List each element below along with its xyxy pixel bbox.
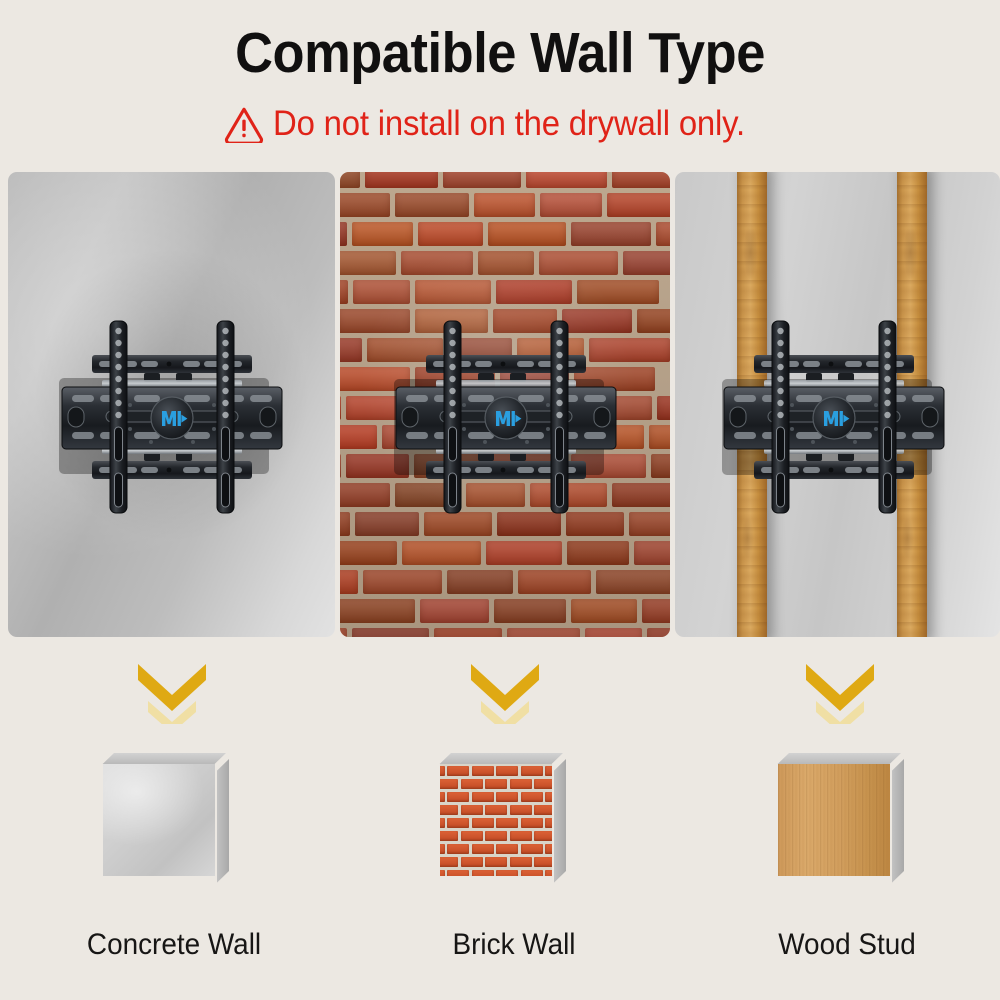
brick: [402, 541, 481, 565]
warning-triangle-icon: [224, 106, 264, 143]
brick: [395, 193, 469, 217]
brick: [540, 193, 602, 217]
swatch-brick: [545, 844, 552, 854]
brick: [340, 251, 396, 275]
brick: [634, 541, 670, 565]
brick-row: [340, 278, 670, 307]
brick: [340, 454, 341, 478]
mount-center-hub: [485, 397, 527, 439]
brick-row: [340, 220, 670, 249]
panel-brick-wall: [340, 172, 670, 637]
brick: [577, 280, 659, 304]
brick: [418, 222, 483, 246]
swatch-brick: [461, 805, 483, 815]
swatch-brick-row: [440, 764, 552, 777]
swatch-brick: [521, 792, 543, 802]
swatch-brick: [440, 857, 458, 867]
swatch-brick: [534, 831, 552, 841]
swatch-brick: [461, 857, 483, 867]
swatch-brick: [496, 870, 518, 877]
brick: [571, 599, 637, 623]
swatch-brick: [545, 766, 552, 776]
swatch-brick-row: [440, 803, 552, 816]
brick: [518, 570, 591, 594]
mount-vertical-arm-right: [551, 321, 568, 513]
swatch-brick: [496, 766, 518, 776]
swatch-brick: [472, 766, 494, 776]
brick: [596, 570, 670, 594]
swatch-brick: [485, 831, 507, 841]
brick: [474, 193, 535, 217]
swatch-top-face: [440, 753, 563, 764]
brick-row: [340, 568, 670, 597]
tv-mount-bracket-stud: [718, 317, 950, 517]
brick: [637, 309, 670, 333]
mount-vertical-arm-right: [217, 321, 234, 513]
brick: [585, 628, 642, 637]
swatch-brick: [534, 857, 552, 867]
swatch-brick: [496, 792, 518, 802]
swatch-brick-row: [440, 868, 552, 876]
brick-row: [340, 597, 670, 626]
swatch-brick: [440, 805, 458, 815]
swatch-brick: [510, 857, 532, 867]
mount-vertical-arm-left: [110, 321, 127, 513]
brick-row: [340, 249, 670, 278]
caption-concrete-wall: Concrete Wall: [35, 928, 314, 962]
swatch-brick-row: [440, 842, 552, 855]
wall-type-panels: [0, 172, 1000, 637]
swatch-brick: [485, 779, 507, 789]
brick: [340, 425, 377, 449]
brick: [539, 251, 618, 275]
brick: [363, 570, 442, 594]
swatch-brick: [447, 844, 469, 854]
brick: [340, 338, 362, 362]
brick: [447, 570, 513, 594]
swatch-brick: [461, 831, 483, 841]
brick: [642, 599, 670, 623]
swatch-brick: [440, 844, 445, 854]
brick: [607, 193, 670, 217]
brick: [651, 454, 670, 478]
brick: [401, 251, 473, 275]
swatch-brick: [534, 805, 552, 815]
tv-mount-bracket-concrete: [56, 317, 288, 517]
brick: [340, 599, 415, 623]
swatch-brick: [510, 831, 532, 841]
brick: [496, 280, 572, 304]
brick: [612, 172, 670, 188]
tv-mount-bracket-brick: [390, 317, 622, 517]
brick: [507, 628, 580, 637]
brick: [649, 425, 670, 449]
swatch-brick: [521, 870, 543, 877]
brick: [340, 570, 358, 594]
brick: [647, 628, 670, 637]
warning-text: Do not install on the drywall only.: [273, 104, 745, 144]
swatch-brick-row: [440, 790, 552, 803]
swatch-brick: [447, 818, 469, 828]
brick-swatch: [440, 753, 566, 877]
brick-row: [340, 539, 670, 568]
chevron-arrows-wood: [798, 658, 882, 724]
header: Compatible Wall Type Do not install on t…: [0, 0, 1000, 165]
mount-vertical-arm-left: [772, 321, 789, 513]
swatch-brick: [485, 805, 507, 815]
swatch-front-face-wood: [778, 764, 890, 876]
swatch-brick: [472, 818, 494, 828]
swatch-brick: [440, 818, 445, 828]
mount-center-hub: [813, 397, 855, 439]
swatch-brick: [510, 805, 532, 815]
panel-wood-stud: [675, 172, 1000, 637]
caption-wood-stud: Wood Stud: [708, 928, 987, 962]
tv-mount-graphic: [56, 317, 288, 517]
swatch-brick: [447, 870, 469, 877]
brick: [340, 541, 397, 565]
swatch-brick: [440, 779, 458, 789]
brick: [434, 628, 502, 637]
brick: [629, 512, 670, 536]
brick: [656, 222, 670, 246]
swatch-brick: [472, 792, 494, 802]
swatch-brick: [440, 766, 445, 776]
brick: [443, 172, 521, 188]
brick: [623, 251, 670, 275]
swatch-brick: [440, 792, 445, 802]
chevron-arrows-concrete: [130, 658, 214, 724]
mount-center-hub: [151, 397, 193, 439]
swatch-brick: [496, 818, 518, 828]
brick: [494, 599, 566, 623]
swatch-brick-row: [440, 777, 552, 790]
tv-mount-graphic: [390, 317, 622, 517]
warning-notice: Do not install on the drywall only.: [0, 104, 1000, 144]
swatch-brick-row: [440, 816, 552, 829]
swatch-brick: [521, 818, 543, 828]
brick: [340, 483, 390, 507]
swatch-brick: [485, 857, 507, 867]
swatch-brick-row: [440, 829, 552, 842]
brick: [657, 396, 670, 420]
swatch-brick: [545, 792, 552, 802]
brick-row: [340, 626, 670, 637]
swatch-top-face: [778, 753, 901, 764]
swatch-front-face-concrete: [103, 764, 215, 876]
brick: [353, 280, 410, 304]
swatch-brick: [472, 870, 494, 877]
mount-vertical-arm-left: [444, 321, 461, 513]
swatch-top-face: [103, 753, 226, 764]
swatch-brick: [447, 792, 469, 802]
brick: [571, 222, 651, 246]
swatch-brick: [545, 818, 552, 828]
brick: [486, 541, 562, 565]
swatch-brick: [534, 779, 552, 789]
swatch-brick: [510, 779, 532, 789]
double-chevron-down-icon: [798, 658, 882, 724]
swatch-brick: [521, 766, 543, 776]
swatch-side-face: [554, 759, 566, 883]
brick: [478, 251, 534, 275]
brick: [340, 193, 390, 217]
brick: [567, 541, 629, 565]
swatch-brick: [545, 870, 552, 877]
swatch-brick: [496, 844, 518, 854]
brick-row: [340, 191, 670, 220]
panel-concrete-wall: [8, 172, 335, 637]
swatch-brick: [440, 870, 445, 877]
brick: [340, 280, 348, 304]
brick: [488, 222, 566, 246]
brick: [340, 222, 347, 246]
brick: [340, 628, 347, 637]
brick: [340, 396, 341, 420]
double-chevron-down-icon: [130, 658, 214, 724]
chevron-arrows-brick: [463, 658, 547, 724]
swatch-brick: [447, 766, 469, 776]
brick-row: [340, 172, 670, 191]
swatch-front-face-brick: [440, 764, 552, 876]
swatch-brick: [521, 844, 543, 854]
brick: [352, 222, 413, 246]
swatch-side-face: [892, 759, 904, 883]
caption-brick-wall: Brick Wall: [375, 928, 654, 962]
brick: [415, 280, 491, 304]
brick: [340, 512, 350, 536]
swatch-brick: [440, 831, 458, 841]
swatch-brick-row: [440, 855, 552, 868]
swatch-brick: [461, 779, 483, 789]
wood-swatch: [778, 753, 904, 877]
double-chevron-down-icon: [463, 658, 547, 724]
brick: [365, 172, 438, 188]
swatch-brick: [472, 844, 494, 854]
brick: [526, 172, 607, 188]
brick: [352, 628, 429, 637]
brick: [420, 599, 489, 623]
brick: [340, 172, 360, 188]
page-title: Compatible Wall Type: [40, 20, 960, 86]
tv-mount-graphic: [718, 317, 950, 517]
concrete-swatch: [103, 753, 229, 877]
swatch-side-face: [217, 759, 229, 883]
mount-vertical-arm-right: [879, 321, 896, 513]
